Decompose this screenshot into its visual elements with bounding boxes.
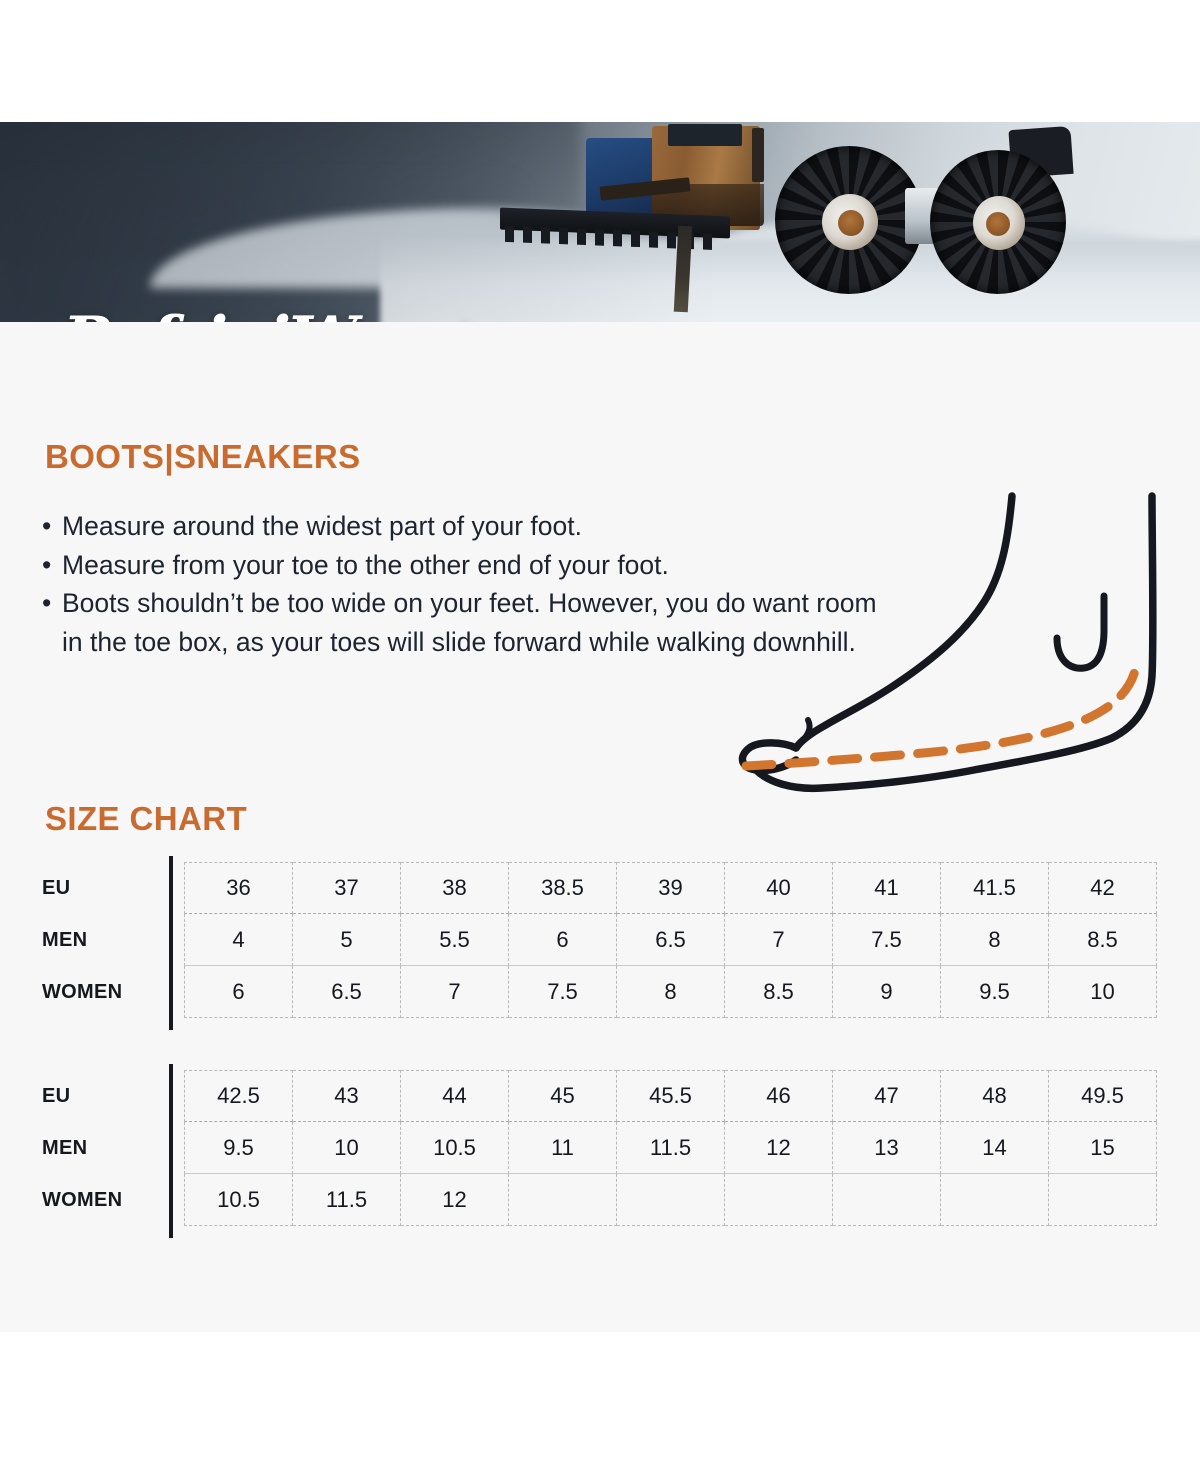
table-cell: 11.5: [293, 1174, 401, 1226]
row-label-women: WOMEN: [42, 966, 160, 1018]
table-cell: 13: [833, 1122, 941, 1174]
bullet-marker-icon: •: [42, 584, 62, 623]
table-cell-empty: [509, 1174, 617, 1226]
table-cell-empty: [617, 1174, 725, 1226]
table-cell: 45.5: [617, 1070, 725, 1122]
table-cell: 8.5: [1049, 914, 1157, 966]
table-cell: 15: [1049, 1122, 1157, 1174]
table-cell-empty: [1049, 1174, 1157, 1226]
table-cell: 42.5: [184, 1070, 293, 1122]
logo-wordmark: RefrigiWear: [63, 304, 457, 322]
table-cell: 6: [184, 966, 293, 1018]
table-cell-empty: [833, 1174, 941, 1226]
row-cells: 6 6.5 7 7.5 8 8.5 9 9.5 10: [184, 966, 1157, 1018]
table-cell: 7: [401, 966, 509, 1018]
table-cell: 45: [509, 1070, 617, 1122]
row-divider-bar: [160, 1174, 184, 1226]
table-cell: 4: [184, 914, 293, 966]
table-cell: 11.5: [617, 1122, 725, 1174]
banner-photo-snowplow: [0, 122, 1200, 322]
table-cell: 7: [725, 914, 833, 966]
table-cell: 48: [941, 1070, 1049, 1122]
foot-measurement-illustration: [712, 470, 1182, 800]
table-cell: 5: [293, 914, 401, 966]
table-cell: 7.5: [833, 914, 941, 966]
table-row: WOMEN 10.5 11.5 12: [42, 1174, 1157, 1226]
table-cell: 46: [725, 1070, 833, 1122]
row-label-men: MEN: [42, 914, 160, 966]
content-panel: BOOTS|SNEAKERS • Measure around the wide…: [0, 322, 1200, 1332]
row-cells: 10.5 11.5 12: [184, 1174, 1157, 1226]
table-cell: 8: [941, 914, 1049, 966]
row-divider-bar: [160, 966, 184, 1018]
refrigiwear-logo: RefrigiWear®: [63, 304, 473, 322]
table-cell: 10.5: [401, 1122, 509, 1174]
row-label-women: WOMEN: [42, 1174, 160, 1226]
row-cells: 4 5 5.5 6 6.5 7 7.5 8 8.5: [184, 914, 1157, 966]
table-cell: 10: [293, 1122, 401, 1174]
size-chart-page: RefrigiWear® BOOTS|SNEAKERS • Measure ar…: [0, 0, 1200, 1465]
table-cell: 9.5: [184, 1122, 293, 1174]
top-white-strip: [0, 0, 1200, 122]
table-cell: 6.5: [617, 914, 725, 966]
table-row: MEN 9.5 10 10.5 11 11.5 12 13 14 15: [42, 1122, 1157, 1174]
size-table-secondary: EU 42.5 43 44 45 45.5 46 47 48 49.5 MEN: [42, 1070, 1157, 1226]
table-cell: 43: [293, 1070, 401, 1122]
table-cell: 42: [1049, 862, 1157, 914]
row-cells: 42.5 43 44 45 45.5 46 47 48 49.5: [184, 1070, 1157, 1122]
table-cell: 11: [509, 1122, 617, 1174]
table-cell: 38.5: [509, 862, 617, 914]
row-cells: 9.5 10 10.5 11 11.5 12 13 14 15: [184, 1122, 1157, 1174]
table-cell-empty: [725, 1174, 833, 1226]
table-cell: 5.5: [401, 914, 509, 966]
table-cell: 44: [401, 1070, 509, 1122]
table-cell: 38: [401, 862, 509, 914]
row-label-eu: EU: [42, 862, 160, 914]
table-cell: 41.5: [941, 862, 1049, 914]
bullet-marker-icon: •: [42, 546, 62, 585]
table-cell: 8.5: [725, 966, 833, 1018]
table-cell: 12: [725, 1122, 833, 1174]
table-cell: 39: [617, 862, 725, 914]
table-cell: 6.5: [293, 966, 401, 1018]
table-cell: 10: [1049, 966, 1157, 1018]
row-divider-bar: [160, 862, 184, 914]
table-cell: 14: [941, 1122, 1049, 1174]
row-label-men: MEN: [42, 1122, 160, 1174]
size-chart-heading: SIZE CHART: [45, 800, 247, 838]
table-row: WOMEN 6 6.5 7 7.5 8 8.5 9 9.5 10: [42, 966, 1157, 1018]
table-row: EU 42.5 43 44 45 45.5 46 47 48 49.5: [42, 1070, 1157, 1122]
table-cell: 49.5: [1049, 1070, 1157, 1122]
row-cells: 36 37 38 38.5 39 40 41 41.5 42: [184, 862, 1157, 914]
boots-sneakers-heading: BOOTS|SNEAKERS: [45, 438, 361, 476]
table-cell: 8: [617, 966, 725, 1018]
table-cell: 6: [509, 914, 617, 966]
table-cell: 47: [833, 1070, 941, 1122]
hero-banner: RefrigiWear®: [0, 122, 1200, 322]
size-table-primary: EU 36 37 38 38.5 39 40 41 41.5 42 MEN: [42, 862, 1157, 1018]
table-cell: 41: [833, 862, 941, 914]
table-cell: 12: [401, 1174, 509, 1226]
foot-icon: [712, 470, 1182, 800]
bullet-marker-icon: •: [42, 507, 62, 546]
row-divider-bar: [160, 1122, 184, 1174]
table-cell: 9: [833, 966, 941, 1018]
table-cell: 7.5: [509, 966, 617, 1018]
table-cell: 36: [184, 862, 293, 914]
table-row: MEN 4 5 5.5 6 6.5 7 7.5 8 8.5: [42, 914, 1157, 966]
banner-overlay-veil: [0, 122, 1200, 322]
row-divider-bar: [160, 1070, 184, 1122]
table-row: EU 36 37 38 38.5 39 40 41 41.5 42: [42, 862, 1157, 914]
row-divider-bar: [160, 914, 184, 966]
table-cell: 9.5: [941, 966, 1049, 1018]
table-cell: 10.5: [184, 1174, 293, 1226]
row-label-eu: EU: [42, 1070, 160, 1122]
table-cell: 40: [725, 862, 833, 914]
table-cell-empty: [941, 1174, 1049, 1226]
table-cell: 37: [293, 862, 401, 914]
